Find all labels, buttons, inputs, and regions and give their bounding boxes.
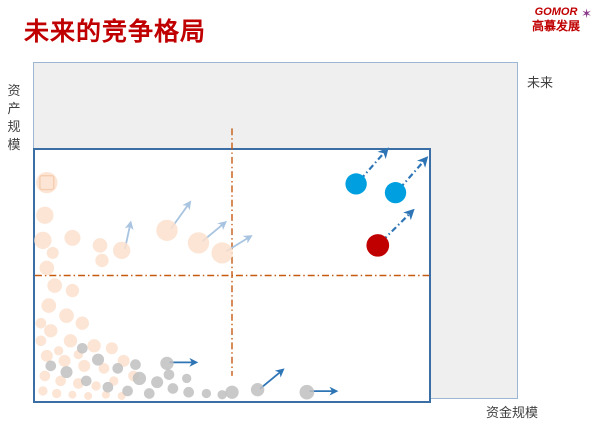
bubble-marker[interactable] (38, 386, 47, 395)
bubble-marker[interactable] (64, 230, 80, 246)
bubble-marker[interactable] (41, 298, 56, 313)
y-axis-char-0: 资 (4, 82, 24, 100)
growth-arrow (360, 150, 386, 180)
bubble-marker[interactable] (211, 242, 232, 263)
bubble-marker[interactable] (39, 261, 54, 276)
slide-canvas: 未来的竞争格局 GOMOR ✶ 高慕发展 资 产 规 模 未来 资金规模 (0, 0, 600, 433)
bubble-marker[interactable] (144, 388, 155, 399)
bubble-marker[interactable] (122, 386, 133, 397)
bubble-marker[interactable] (81, 376, 92, 387)
bubble-marker[interactable] (87, 339, 100, 352)
bubble-marker[interactable] (164, 369, 175, 380)
scatter-plot-svg (35, 150, 429, 401)
star-icon: ✶ (581, 7, 592, 20)
y-axis-char-1: 产 (4, 100, 24, 118)
growth-arrow (400, 158, 426, 188)
series-成长者-橙 (34, 172, 250, 400)
bubble-marker[interactable] (113, 242, 130, 259)
bubble-marker[interactable] (112, 363, 123, 374)
bubble-marker[interactable] (54, 346, 63, 355)
bubble-marker[interactable] (156, 220, 177, 241)
bubble-marker[interactable] (95, 254, 108, 267)
brand-logo: GOMOR ✶ 高慕发展 (520, 6, 592, 38)
bubble-marker[interactable] (44, 324, 57, 337)
bubble-marker[interactable] (130, 359, 141, 370)
bubble-marker[interactable] (36, 318, 47, 329)
bubble-marker[interactable] (251, 383, 264, 396)
bubble-marker[interactable] (91, 381, 100, 390)
page-title: 未来的竞争格局 (24, 12, 206, 48)
series-领先者-红 (366, 211, 412, 257)
bubble-marker[interactable] (93, 238, 108, 253)
bubble-marker[interactable] (168, 383, 179, 394)
growth-arrow (260, 370, 283, 389)
bubble-marker[interactable] (345, 173, 366, 194)
bubble-marker[interactable] (45, 361, 56, 372)
bubble-marker[interactable] (160, 357, 173, 370)
bubble-marker[interactable] (76, 317, 89, 330)
bubble-marker[interactable] (47, 278, 62, 293)
future-annotation: 未来 (527, 72, 553, 91)
bubble-marker[interactable] (133, 372, 146, 385)
bubble-marker[interactable] (66, 284, 79, 297)
bubble-marker[interactable] (52, 389, 61, 398)
bubble-marker[interactable] (36, 335, 47, 346)
bubble-marker[interactable] (47, 247, 59, 259)
bubble-marker[interactable] (106, 342, 118, 354)
bubble-marker[interactable] (188, 232, 209, 253)
bubble-marker[interactable] (103, 382, 114, 393)
bubble-marker[interactable] (92, 354, 104, 366)
logo-chinese-name: 高慕发展 (520, 19, 592, 33)
bubble-marker[interactable] (59, 355, 71, 367)
bubble-marker[interactable] (77, 343, 88, 354)
bubble-marker[interactable] (300, 385, 315, 400)
bubble-marker[interactable] (151, 376, 163, 388)
bubble-marker[interactable] (59, 308, 74, 323)
bubble-marker[interactable] (61, 366, 73, 378)
y-axis-label: 资 产 规 模 (4, 82, 24, 154)
bubble-marker[interactable] (41, 350, 53, 362)
bubble-marker[interactable] (182, 374, 191, 383)
x-axis-label: 资金规模 (486, 402, 538, 421)
bubble-marker[interactable] (225, 386, 238, 399)
series-追赶者-灰 (45, 343, 336, 400)
bubble-marker[interactable] (68, 391, 76, 399)
bubble-marker[interactable] (385, 182, 406, 203)
growth-arrow (382, 211, 412, 241)
series-领先者-蓝 (345, 150, 426, 204)
bubble-marker[interactable] (78, 360, 90, 372)
bubble-marker[interactable] (202, 389, 211, 398)
y-axis-char-3: 模 (4, 136, 24, 154)
bubble-marker[interactable] (34, 232, 51, 249)
bubble-marker[interactable] (183, 387, 194, 398)
bubble-marker[interactable] (64, 334, 77, 347)
bubble-marker[interactable] (36, 207, 53, 224)
bubble-marker[interactable] (40, 371, 51, 382)
bubble-marker[interactable] (84, 392, 92, 400)
bubble-marker[interactable] (366, 234, 389, 257)
y-axis-char-2: 规 (4, 118, 24, 136)
plot-area (33, 148, 431, 403)
